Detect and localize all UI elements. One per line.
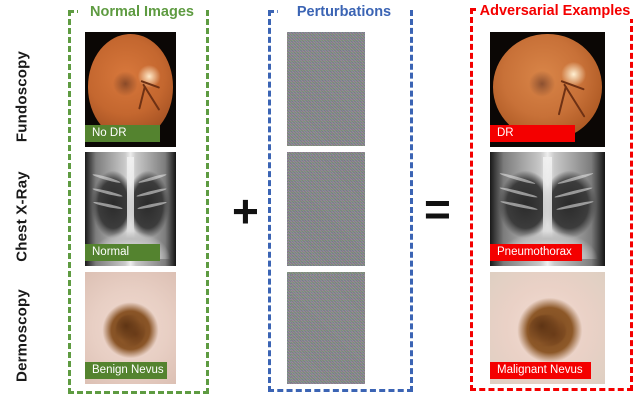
rib-shadow <box>500 201 538 212</box>
normal-fundoscopy-image: No DR <box>85 32 176 147</box>
diagnosis-tag: Normal <box>85 244 160 261</box>
equals-operator-icon: = <box>424 186 451 232</box>
nevus-lesion <box>116 315 145 346</box>
normal-dermoscopy-image: Benign Nevus <box>85 272 176 384</box>
adversarial-fundoscopy-image: DR <box>490 32 605 147</box>
rib-shadow <box>92 187 123 197</box>
column-title-normal-images: Normal Images <box>78 4 206 20</box>
rib-shadow <box>93 201 123 210</box>
nevus-lesion <box>529 315 566 346</box>
adversarial-noise-pattern <box>287 32 365 146</box>
perturbation-fundoscopy-noise <box>287 32 365 146</box>
spine-shadow <box>543 157 552 239</box>
rib-shadow <box>137 201 167 210</box>
plus-operator-icon: + <box>232 188 259 234</box>
rib-shadow <box>92 173 121 184</box>
perturbation-chest-xray-noise <box>287 152 365 266</box>
rib-shadow <box>136 187 167 197</box>
rib-shadow <box>138 173 167 184</box>
adversarial-noise-pattern <box>287 152 365 266</box>
rib-shadow <box>556 201 594 212</box>
diagnosis-tag: No DR <box>85 125 160 142</box>
rib-shadow <box>555 186 594 198</box>
column-title-perturbations: Perturbations <box>278 4 410 20</box>
diagnosis-tag: Malignant Nevus <box>490 362 591 379</box>
row-label-fundoscopy: Fundoscopy <box>14 27 31 167</box>
perturbation-dermoscopy-noise <box>287 272 365 384</box>
rib-shadow <box>499 172 535 185</box>
rib-shadow <box>557 172 593 185</box>
column-title-adversarial-examples: Adversarial Examples <box>476 3 634 19</box>
spine-shadow <box>127 157 134 239</box>
adversarial-chest-xray-image: Pneumothorax <box>490 152 605 266</box>
diagnosis-tag: DR <box>490 125 575 142</box>
diagnosis-tag: Pneumothorax <box>490 244 582 261</box>
normal-chest-xray-image: Normal <box>85 152 176 266</box>
adversarial-noise-pattern <box>287 272 365 384</box>
diagnosis-tag: Benign Nevus <box>85 362 167 379</box>
rib-shadow <box>499 186 538 198</box>
adversarial-dermoscopy-image: Malignant Nevus <box>490 272 605 384</box>
row-label-dermoscopy: Dermoscopy <box>14 266 31 406</box>
